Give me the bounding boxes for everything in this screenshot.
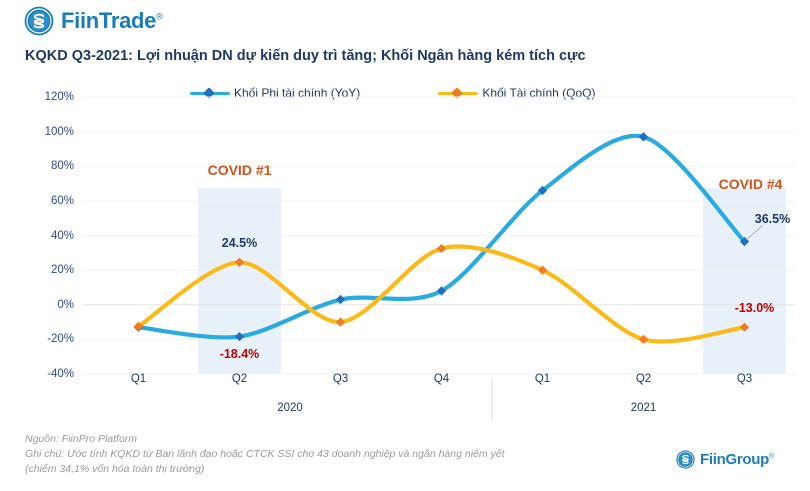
legend-item-tai-chinh[interactable]: Khối Tài chính (QoQ) bbox=[438, 86, 595, 100]
y-axis-tick-label: -40% bbox=[0, 368, 74, 380]
footnotes: Nguồn: FiinPro Platform Ghi chú: Ước tín… bbox=[25, 432, 505, 478]
x-axis-tick-label: Q3 bbox=[737, 373, 752, 385]
data-point-value-label: -18.4% bbox=[220, 347, 260, 361]
brand-registered-mark: ® bbox=[156, 12, 162, 22]
x-axis-year-label: 2020 bbox=[277, 402, 303, 414]
y-axis-tick-label: 80% bbox=[0, 160, 74, 172]
footer-brand-name-text: FiinGroup bbox=[700, 451, 769, 468]
data-point-marker[interactable] bbox=[740, 323, 749, 332]
y-axis-tick-label: 60% bbox=[0, 195, 74, 207]
data-point-marker[interactable] bbox=[538, 186, 547, 195]
legend-label-blue: Khối Phi tài chính (YoY) bbox=[234, 86, 360, 100]
legend-label-orange: Khối Tài chính (QoQ) bbox=[482, 86, 595, 100]
x-axis-tick-label: Q1 bbox=[535, 373, 550, 385]
series-line-tai-chinh bbox=[139, 247, 745, 342]
data-point-marker[interactable] bbox=[134, 323, 143, 332]
data-point-marker[interactable] bbox=[336, 295, 345, 304]
x-axis-tick-label: Q2 bbox=[636, 373, 651, 385]
x-axis-tick-label: Q1 bbox=[131, 373, 146, 385]
brand-name-text: FiinTrade bbox=[61, 8, 156, 33]
footnote-note-line-2: (chiếm 34,1% vốn hóa toàn thị trường) bbox=[25, 462, 505, 477]
footnote-source: Nguồn: FiinPro Platform bbox=[25, 432, 505, 447]
legend-item-phi-tai-chinh[interactable]: Khối Phi tài chính (YoY) bbox=[190, 86, 360, 100]
fiin-circle-s-icon bbox=[24, 6, 54, 36]
data-point-marker[interactable] bbox=[538, 265, 547, 274]
data-point-marker[interactable] bbox=[639, 335, 648, 344]
data-point-marker[interactable] bbox=[336, 317, 345, 326]
data-point-marker[interactable] bbox=[134, 322, 143, 331]
legend-swatch-blue-icon bbox=[190, 87, 230, 99]
y-axis-tick-label: 100% bbox=[0, 126, 74, 138]
footer-brand-logo: FiinGroup® bbox=[676, 450, 774, 469]
y-axis-tick-label: 20% bbox=[0, 264, 74, 276]
x-axis-tick-label: Q2 bbox=[232, 373, 247, 385]
y-axis-tick-label: 40% bbox=[0, 230, 74, 242]
data-point-marker[interactable] bbox=[235, 332, 244, 341]
page-title: KQKD Q3-2021: Lợi nhuận DN dự kiến duy t… bbox=[25, 48, 586, 64]
brand-name: FiinTrade® bbox=[61, 8, 162, 34]
x-axis-year-label: 2021 bbox=[631, 402, 657, 414]
chart-plot-area bbox=[0, 0, 810, 491]
label-leader-line bbox=[747, 226, 763, 240]
y-axis-tick-label: 0% bbox=[0, 299, 74, 311]
fiin-circle-s-icon bbox=[676, 450, 695, 469]
data-point-value-label: 24.5% bbox=[222, 236, 257, 250]
chart-page: FiinTrade® KQKD Q3-2021: Lợi nhuận DN dự… bbox=[0, 0, 810, 491]
legend-swatch-orange-icon bbox=[438, 87, 478, 99]
data-point-marker[interactable] bbox=[740, 237, 749, 246]
chart-legend: Khối Phi tài chính (YoY) Khối Tài chính … bbox=[190, 86, 595, 100]
data-point-marker[interactable] bbox=[437, 244, 446, 253]
footnote-note-line-1: Ghi chú: Ước tính KQKD từ Ban lãnh đạo h… bbox=[25, 447, 505, 462]
x-axis-tick-label: Q4 bbox=[434, 373, 449, 385]
covid-annotation-label: COVID #4 bbox=[719, 176, 783, 192]
brand-logo: FiinTrade® bbox=[24, 6, 162, 36]
footer-brand-registered-mark: ® bbox=[769, 453, 774, 460]
y-axis-tick-label: -20% bbox=[0, 333, 74, 345]
covid-annotation-label: COVID #1 bbox=[208, 162, 272, 178]
data-point-marker[interactable] bbox=[235, 258, 244, 267]
data-point-marker[interactable] bbox=[639, 132, 648, 141]
data-point-value-label: -13.0% bbox=[735, 301, 775, 315]
data-point-value-label: 36.5% bbox=[755, 212, 790, 226]
data-point-marker[interactable] bbox=[437, 286, 446, 295]
y-axis-tick-label: 120% bbox=[0, 91, 74, 103]
footer-brand-name: FiinGroup® bbox=[700, 451, 774, 468]
x-axis-tick-label: Q3 bbox=[333, 373, 348, 385]
